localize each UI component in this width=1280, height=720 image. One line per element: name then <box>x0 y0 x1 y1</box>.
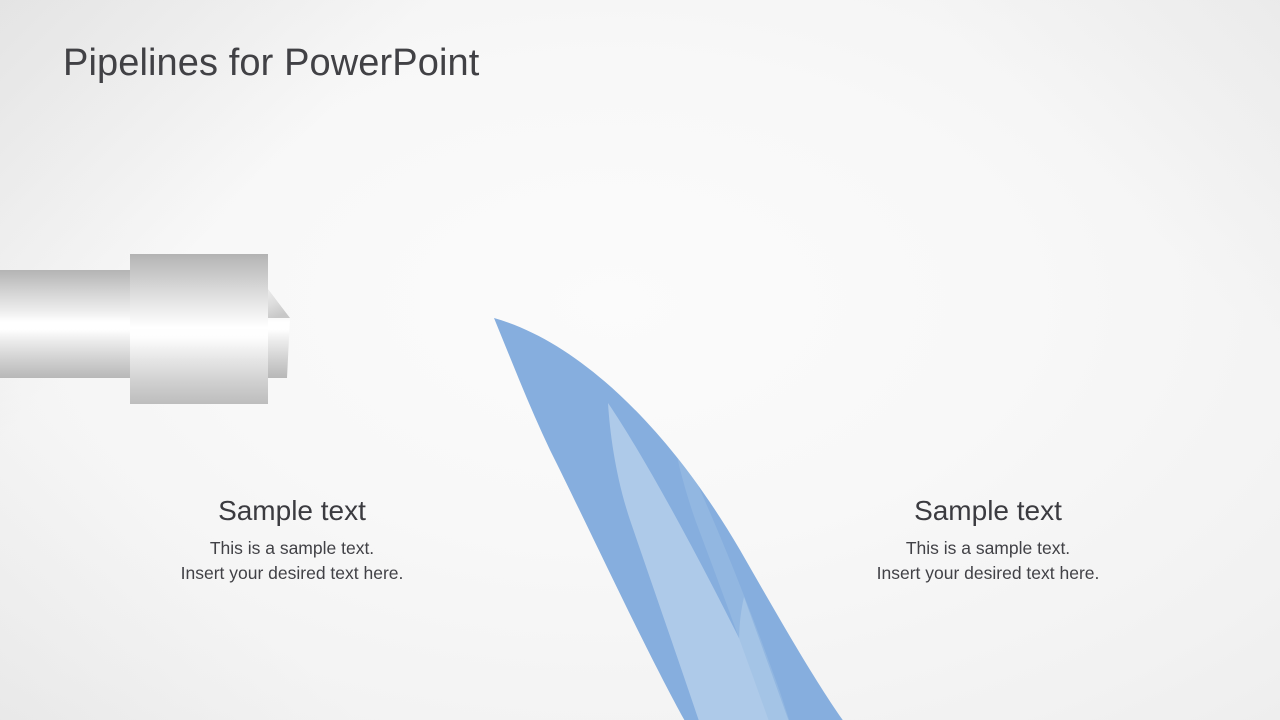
text-block-right-body-line-2: Insert your desired text here. <box>838 561 1138 586</box>
text-block-left-heading: Sample text <box>142 494 442 528</box>
text-block-right-body-line-1: This is a sample text. <box>838 536 1138 561</box>
text-block-right-heading: Sample text <box>838 494 1138 528</box>
text-block-right: Sample text This is a sample text. Inser… <box>838 494 1138 586</box>
page-title: Pipelines for PowerPoint <box>63 42 479 85</box>
text-block-left-body-line-2: Insert your desired text here. <box>142 561 442 586</box>
slide-canvas: Pipelines for PowerPoint <box>0 0 1280 720</box>
pipe-collar <box>130 254 268 404</box>
text-block-right-body: This is a sample text. Insert your desir… <box>838 536 1138 586</box>
text-block-left-body: This is a sample text. Insert your desir… <box>142 536 442 586</box>
text-block-left-body-line-1: This is a sample text. <box>142 536 442 561</box>
text-block-left: Sample text This is a sample text. Inser… <box>142 494 442 586</box>
